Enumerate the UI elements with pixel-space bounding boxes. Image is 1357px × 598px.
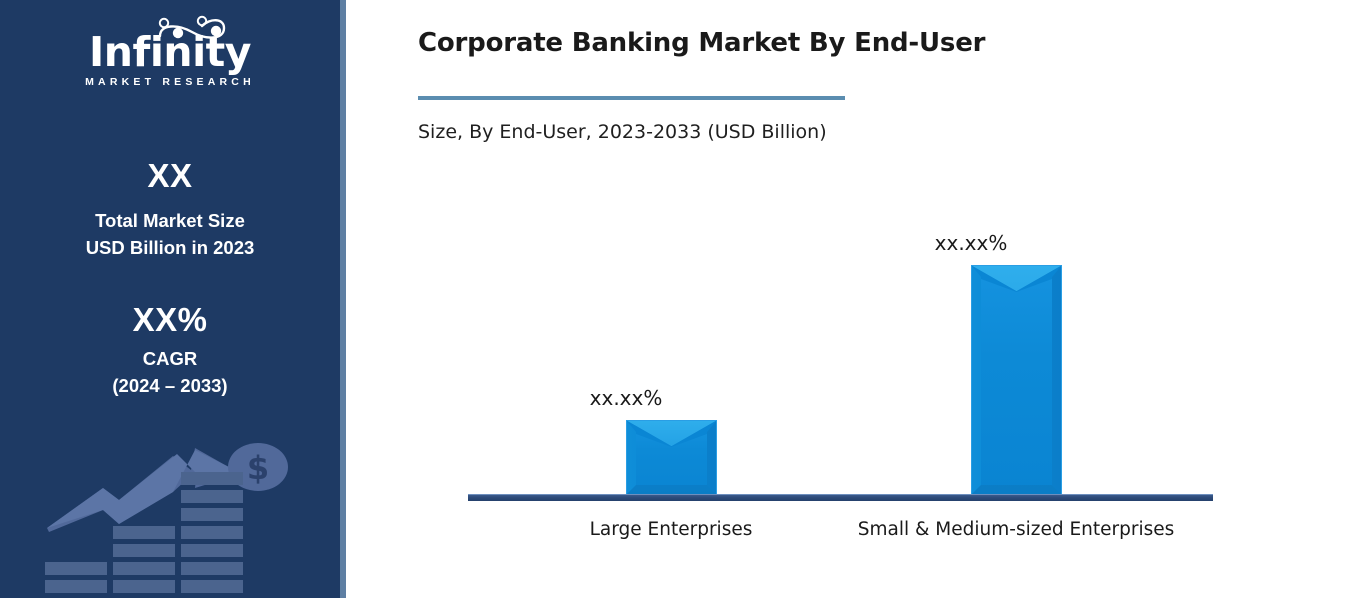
logo-tagline: MARKET RESEARCH xyxy=(0,76,340,88)
logo-wordmark: Infinity xyxy=(0,32,340,73)
bar-large-enterprises[interactable] xyxy=(626,420,717,495)
stat-total-market-size: XX Total Market Size USD Billion in 2023 xyxy=(0,158,340,262)
main-panel: Corporate Banking Market By End-User Siz… xyxy=(346,0,1357,598)
stat-value: XX xyxy=(0,158,340,194)
stat-label-line-1: Total Market Size xyxy=(0,208,340,235)
sidebar-panel: Infinity MARKET RESEARCH XX Total Market… xyxy=(0,0,340,598)
bar-value-label: xx.xx% xyxy=(526,386,726,410)
stat-value: XX% xyxy=(0,302,340,338)
svg-text:$: $ xyxy=(247,449,269,487)
brand-logo: Infinity MARKET RESEARCH xyxy=(0,14,340,96)
stat-label-line-2: (2024 – 2033) xyxy=(0,373,340,400)
category-label-large-enterprises: Large Enterprises xyxy=(471,519,871,540)
chart-axis-line xyxy=(468,494,1213,501)
bar-chart: xx.xx% Large Enterprises xx.xx% Small & … xyxy=(346,0,1357,598)
growth-decoration: $ xyxy=(45,440,295,598)
stat-label-line-2: USD Billion in 2023 xyxy=(0,235,340,262)
category-label-smb-enterprises: Small & Medium-sized Enterprises xyxy=(816,519,1216,540)
bar-smb-enterprises[interactable] xyxy=(971,265,1062,495)
stat-label-line-1: CAGR xyxy=(0,346,340,373)
stat-cagr: XX% CAGR (2024 – 2033) xyxy=(0,302,340,400)
bar-value-label: xx.xx% xyxy=(871,231,1071,255)
